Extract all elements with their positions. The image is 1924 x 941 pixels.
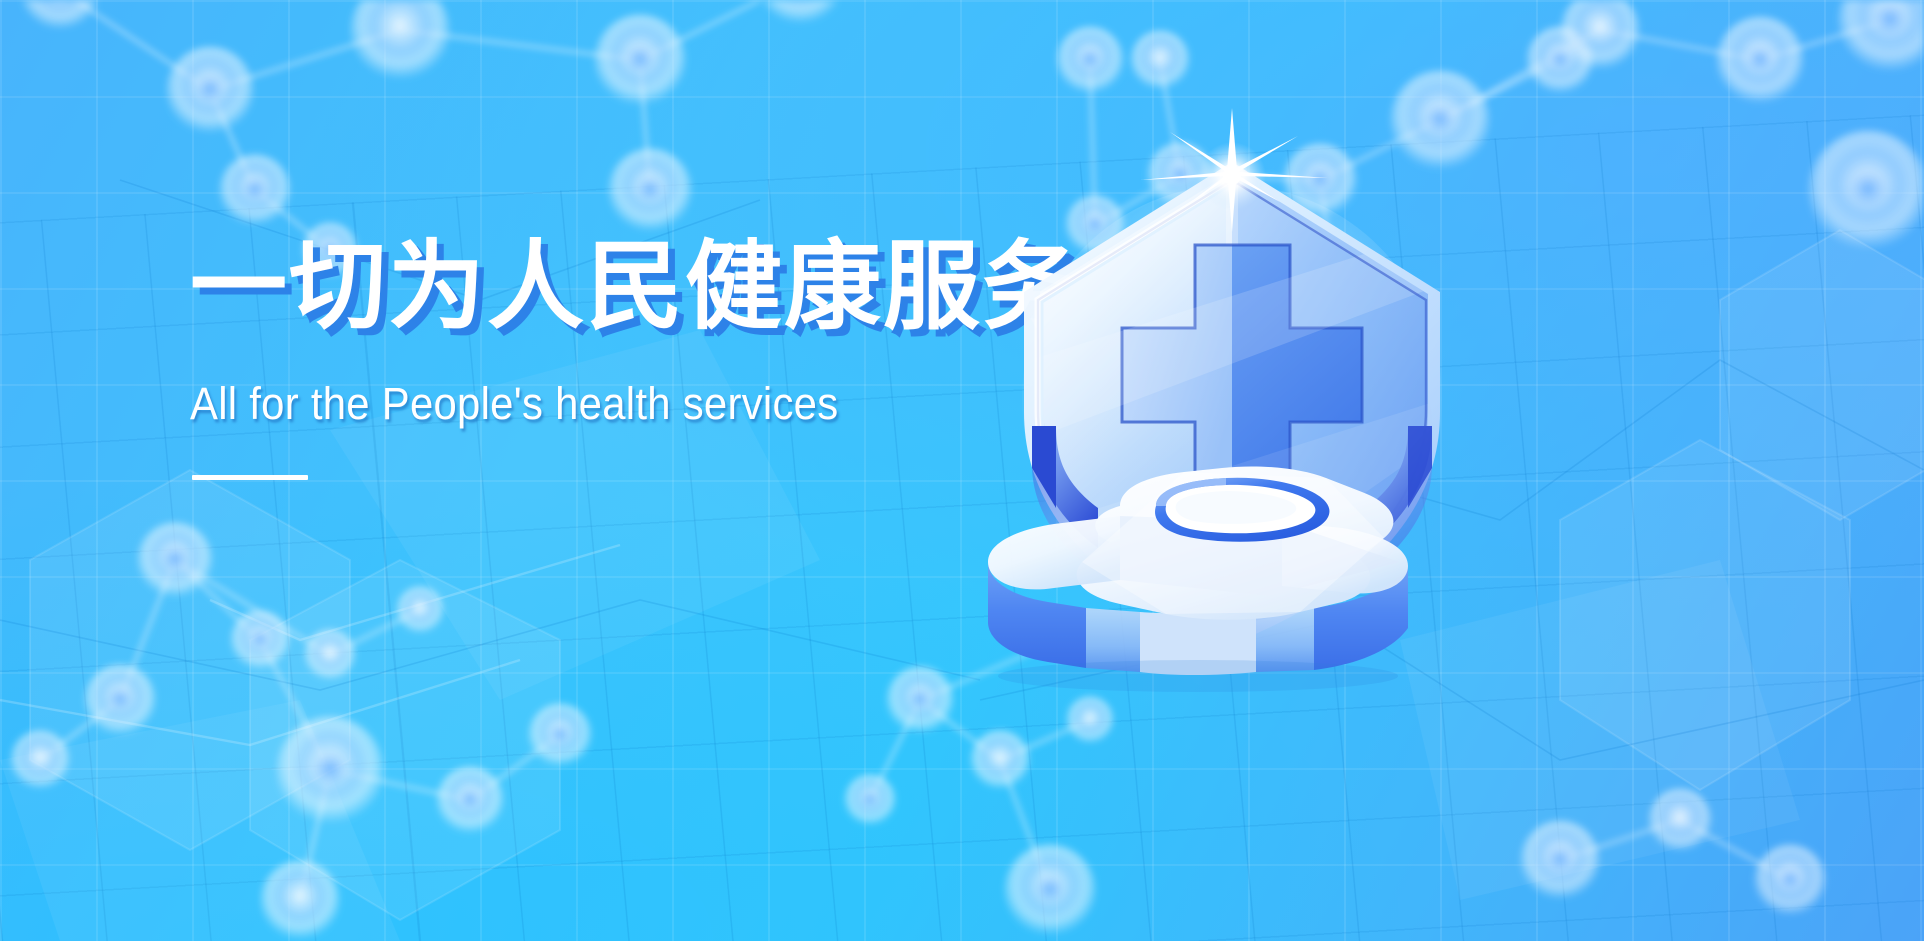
page-subtitle: All for the People's health services bbox=[190, 379, 1074, 429]
shield-illustration bbox=[970, 110, 1500, 690]
title-divider bbox=[192, 475, 308, 480]
health-banner: 一切为人民健康服务 All for the People's health se… bbox=[0, 0, 1924, 941]
grid-pattern-perspective bbox=[0, 104, 1924, 941]
